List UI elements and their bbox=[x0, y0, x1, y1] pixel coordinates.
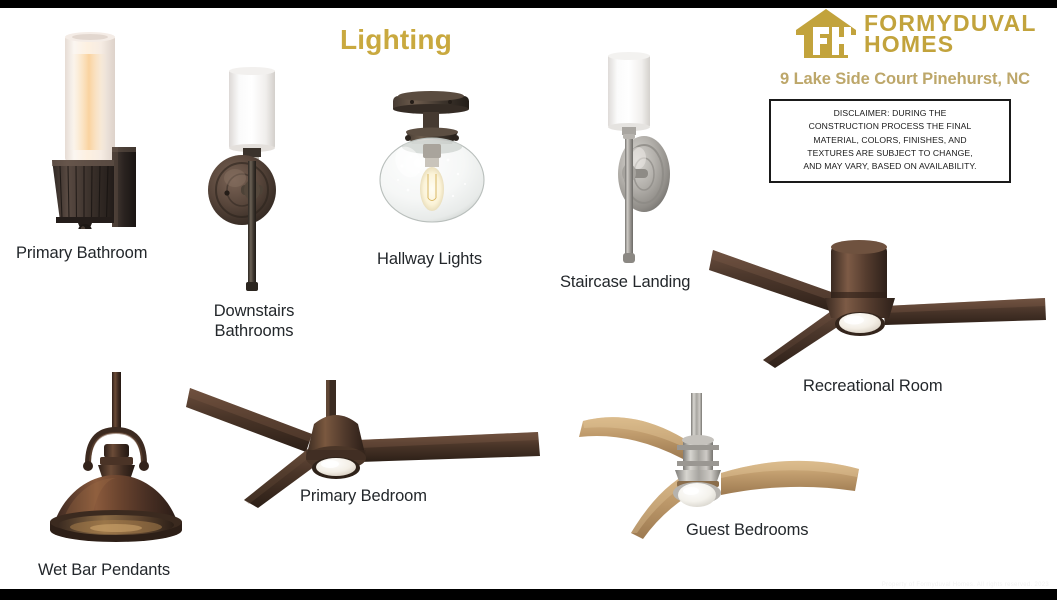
fixture-staircase-landing bbox=[588, 52, 688, 272]
disclaimer-line-2: CONSTRUCTION PROCESS THE FINAL bbox=[775, 120, 1005, 133]
fixture-label-primary-bedroom: Primary Bedroom bbox=[300, 486, 427, 506]
fixture-downstairs-bathrooms bbox=[205, 66, 315, 296]
fixture-label-wet-bar-pendants: Wet Bar Pendants bbox=[38, 560, 170, 580]
fixture-label-guest-bedrooms: Guest Bedrooms bbox=[686, 520, 808, 540]
fixture-hallway-lights bbox=[378, 88, 496, 223]
disclaimer-box: DISCLAIMER: DURING THE CONSTRUCTION PROC… bbox=[769, 99, 1011, 183]
fixture-recreational-room bbox=[705, 232, 1050, 377]
brand-name: FORMYDUVAL HOMES bbox=[864, 13, 1037, 56]
fixture-wet-bar-pendants bbox=[40, 372, 200, 554]
disclaimer-line-3: MATERIAL, COLORS, FINISHES, AND bbox=[775, 134, 1005, 147]
fixture-primary-bathroom bbox=[38, 14, 163, 229]
brand-name-line2: HOMES bbox=[864, 34, 1037, 55]
fixture-label-staircase-landing: Staircase Landing bbox=[560, 272, 690, 292]
fixture-label-hallway-lights: Hallway Lights bbox=[377, 249, 482, 269]
lighting-selections-slide: Lighting FORMYDUVAL HOMES 9 Lake Side Co… bbox=[0, 0, 1057, 600]
top-letterbox-bar bbox=[0, 0, 1057, 8]
page-title: Lighting bbox=[340, 24, 452, 56]
fixture-label-downstairs-bathrooms: Downstairs Bathrooms bbox=[198, 301, 310, 341]
brand-block: FORMYDUVAL HOMES bbox=[795, 8, 1045, 60]
bottom-letterbox-bar bbox=[0, 589, 1057, 600]
fh-house-logo-icon bbox=[795, 8, 857, 60]
fixture-label-primary-bathroom: Primary Bathroom bbox=[16, 243, 147, 263]
disclaimer-line-4: TEXTURES ARE SUBJECT TO CHANGE, bbox=[775, 147, 1005, 160]
brand-address: 9 Lake Side Court Pinehurst, NC bbox=[755, 70, 1055, 89]
disclaimer-line-1: DISCLAIMER: DURING THE bbox=[775, 107, 1005, 120]
watermark-text: Property of Formyduval Homes. All rights… bbox=[882, 582, 1049, 588]
disclaimer-line-5: AND MAY VARY, BASED ON AVAILABILITY. bbox=[775, 160, 1005, 173]
